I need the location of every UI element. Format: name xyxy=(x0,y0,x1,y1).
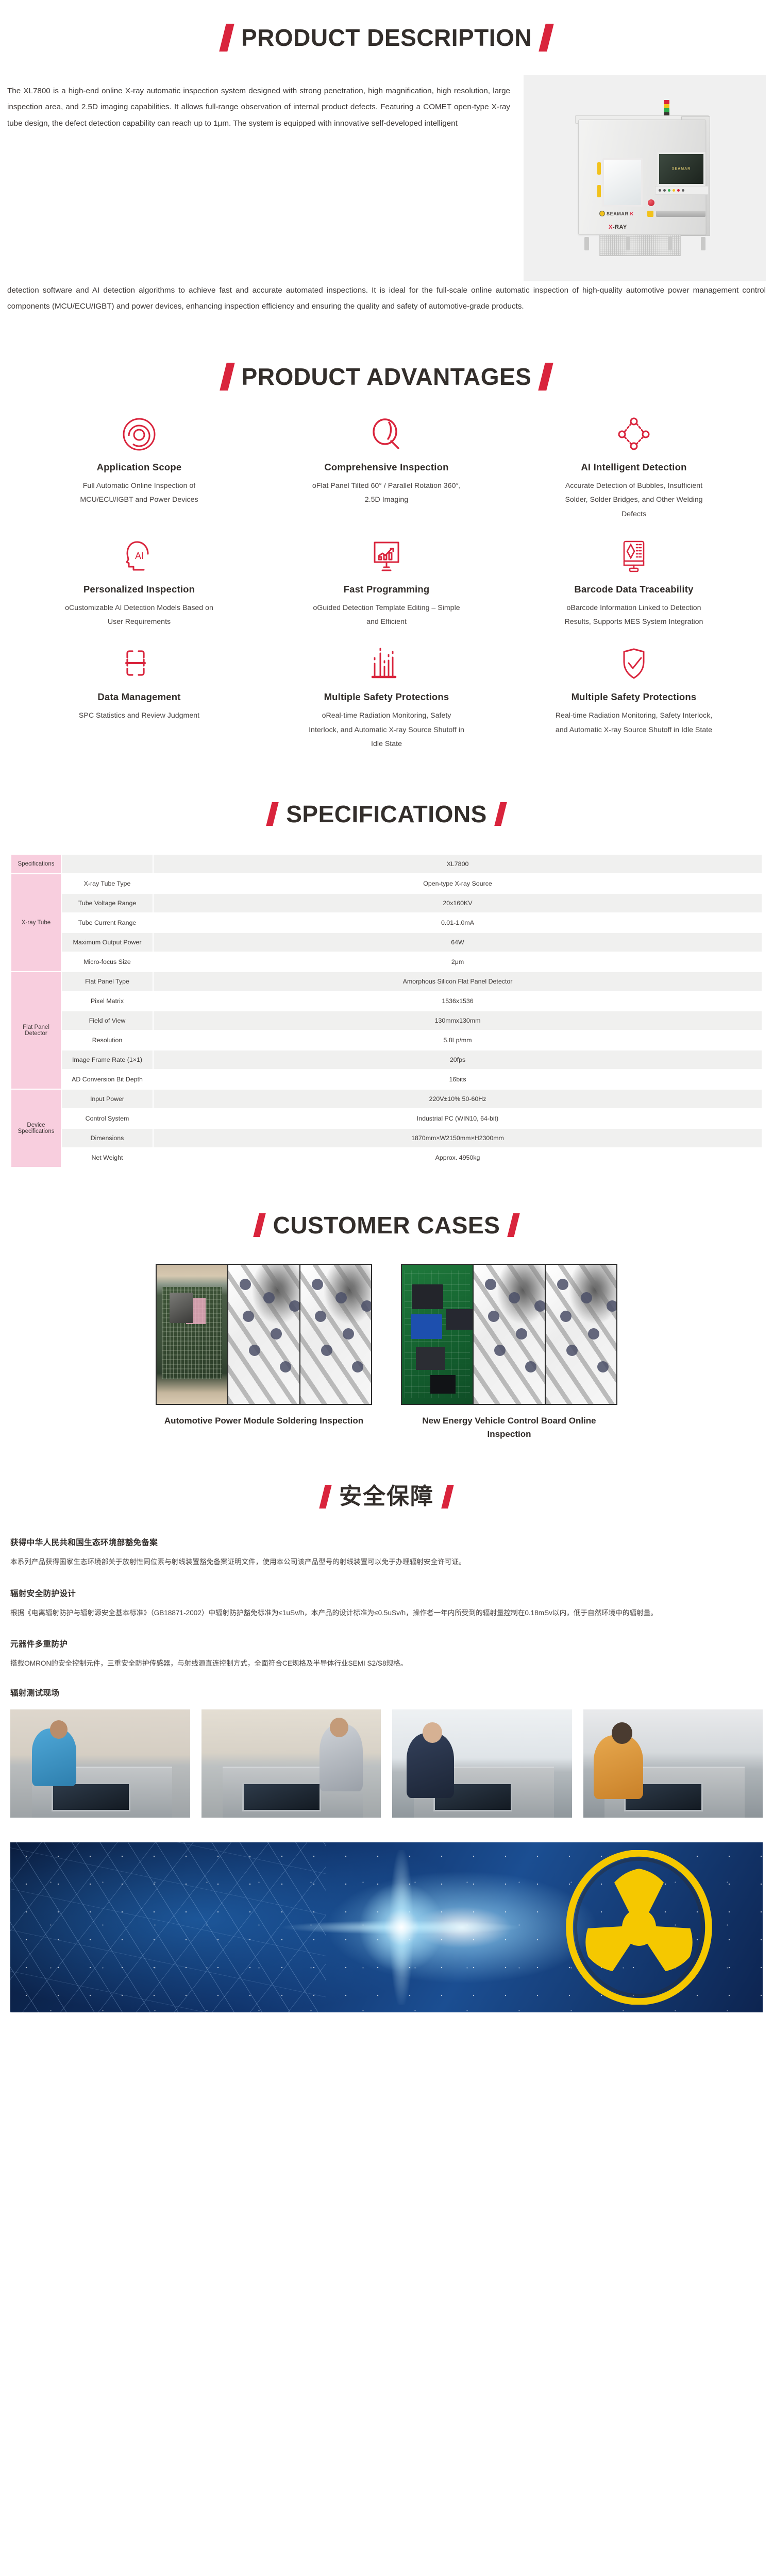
case-photo-pane xyxy=(157,1265,227,1404)
table-key-cell: Micro-focus Size xyxy=(62,953,153,971)
xray-label-text: -RAY xyxy=(613,224,627,230)
case-xray-pane-1 xyxy=(227,1265,299,1404)
table-key-cell: Pixel Matrix xyxy=(62,992,153,1010)
machine-window xyxy=(602,158,643,207)
table-value-cell: 5.8Lp/mm xyxy=(154,1031,762,1049)
case-image xyxy=(156,1264,372,1405)
advantage-description: Real-time Radiation Monitoring, Safety I… xyxy=(554,709,714,737)
table-key-cell: AD Conversion Bit Depth xyxy=(62,1070,153,1089)
table-key-header xyxy=(62,855,153,873)
table-value-cell: 1536x1536 xyxy=(154,992,762,1010)
product-description-body: The XL7800 is a high-end online X-ray au… xyxy=(0,75,773,314)
product-photo: SEAMAR SEAMARK xyxy=(524,75,766,281)
product-description-heading: PRODUCT DESCRIPTION xyxy=(0,24,773,52)
slash-right-icon xyxy=(539,363,553,391)
person-head xyxy=(50,1720,68,1739)
advantage-description: SPC Statistics and Review Judgment xyxy=(79,709,199,723)
monitor-chart-icon xyxy=(367,537,406,575)
table-value-cell: Approx. 4950kg xyxy=(154,1148,762,1167)
table-group-header: Specifications xyxy=(11,855,61,873)
slash-left-icon xyxy=(266,802,278,826)
advantage-title: Data Management xyxy=(97,691,180,703)
safety-block-text-1: 本系列产品获得国家生态环境部关于放射性同位素与射线装置豁免备案证明文件，使用本公… xyxy=(10,1555,763,1570)
table-row: Flat Panel Detector Flat Panel Type Amor… xyxy=(11,972,762,991)
table-key-cell: Dimensions xyxy=(62,1129,153,1147)
section-title: 安全保障 xyxy=(339,1485,434,1508)
machine-screen xyxy=(242,1783,321,1811)
table-value-cell: Amorphous Silicon Flat Panel Detector xyxy=(154,972,762,991)
section-product-description: PRODUCT DESCRIPTION The XL7800 is a high… xyxy=(0,0,773,314)
advantage-description: oBarcode Information Linked to Detection… xyxy=(554,601,714,630)
safety-body: 获得中华人民共和国生态环境部豁免备案 本系列产品获得国家生态环境部关于放射性同位… xyxy=(0,1536,773,1818)
machine-body: SEAMAR SEAMARK xyxy=(578,120,706,235)
safety-block-heading-2: 辐射安全防护设计 xyxy=(10,1587,763,1599)
advantage-card-fast-programming: Fast Programming oGuided Detection Templ… xyxy=(263,537,510,637)
table-row: Dimensions 1870mm×W2150mm×H2300mm xyxy=(11,1129,762,1147)
safety-block-text-2: 根据《电离辐射防护与辐射源安全基本标准》（GB18871-2002）中辐射防护豁… xyxy=(10,1606,763,1621)
slash-left-icon xyxy=(219,24,234,52)
person-head xyxy=(612,1722,632,1744)
table-key-cell: Net Weight xyxy=(62,1148,153,1167)
safety-photo-gallery xyxy=(10,1709,763,1818)
table-value-cell: 20x160KV xyxy=(154,894,762,912)
table-key-cell: Image Frame Rate (1×1) xyxy=(62,1050,153,1069)
ai-head-icon: AI xyxy=(120,537,158,575)
table-group-cell-device-specifications: Device Specifications xyxy=(11,1090,61,1167)
specifications-table-wrap: Specifications XL7800 X-ray Tube X-ray T… xyxy=(0,854,773,1168)
table-value-cell: Open-type X-ray Source xyxy=(154,874,762,893)
table-row: Maximum Output Power 64W xyxy=(11,933,762,952)
table-key-cell: Flat Panel Type xyxy=(62,972,153,991)
machine-conveyor-tray xyxy=(656,211,705,217)
advantage-title: Multiple Safety Protections xyxy=(324,691,449,703)
advantage-title: Fast Programming xyxy=(344,584,430,595)
case-xray-pane-2 xyxy=(545,1265,616,1404)
xray-machine-illustration: SEAMAR SEAMARK xyxy=(573,98,722,268)
section-title: PRODUCT ADVANTAGES xyxy=(242,365,532,388)
table-value-cell: 1870mm×W2150mm×H2300mm xyxy=(154,1129,762,1147)
radiation-banner-image xyxy=(10,1842,763,2012)
table-value-cell: 20fps xyxy=(154,1050,762,1069)
table-row: Net Weight Approx. 4950kg xyxy=(11,1148,762,1167)
case-item-automotive-power-module: Automotive Power Module Soldering Inspec… xyxy=(156,1264,372,1440)
product-description-paragraph-continued: detection software and AI detection algo… xyxy=(7,282,766,314)
safety-photo-4 xyxy=(583,1709,763,1818)
section-customer-cases: CUSTOMER CASES Automotive Power Module S… xyxy=(0,1168,773,1440)
safety-photo-3 xyxy=(392,1709,572,1818)
table-group-cell-flat-panel-detector: Flat Panel Detector xyxy=(11,972,61,1089)
target-rings-icon xyxy=(120,415,158,453)
table-key-cell: X-ray Tube Type xyxy=(62,874,153,893)
table-key-cell: Input Power xyxy=(62,1090,153,1108)
person-head xyxy=(423,1722,442,1743)
machine-monitor: SEAMAR xyxy=(657,152,705,186)
table-value-cell: 64W xyxy=(154,933,762,952)
signal-bars-icon xyxy=(367,645,406,683)
table-row: Pixel Matrix 1536x1536 xyxy=(11,992,762,1010)
case-item-new-energy-vehicle-control-board: New Energy Vehicle Control Board Online … xyxy=(401,1264,617,1440)
advantage-card-personalized-inspection: AI Personalized Inspection oCustomizable… xyxy=(15,537,263,637)
case-caption: New Energy Vehicle Control Board Online … xyxy=(401,1414,617,1440)
xray-x-letter: X xyxy=(609,224,613,230)
machine-screen xyxy=(52,1783,130,1811)
advantage-card-application-scope: Application Scope Full Automatic Online … xyxy=(15,415,263,529)
table-key-cell: Control System xyxy=(62,1109,153,1128)
table-value-cell: 220V±10% 50-60Hz xyxy=(154,1090,762,1108)
table-value-header: XL7800 xyxy=(154,855,762,873)
emergency-stop-button[interactable] xyxy=(647,198,656,207)
network-nodes-icon xyxy=(615,415,653,453)
case-caption: Automotive Power Module Soldering Inspec… xyxy=(156,1414,372,1428)
table-value-cell: 16bits xyxy=(154,1070,762,1089)
advantage-description: Full Automatic Online Inspection of MCU/… xyxy=(59,479,219,507)
person-in-photo xyxy=(594,1735,643,1799)
table-row: Control System Industrial PC (WIN10, 64-… xyxy=(11,1109,762,1128)
safety-block-heading-3: 元器件多重防护 xyxy=(10,1638,763,1649)
table-row: AD Conversion Bit Depth 16bits xyxy=(11,1070,762,1089)
slash-left-icon xyxy=(319,1485,331,1509)
machine-brand-label: SEAMARK xyxy=(599,211,634,216)
slash-right-icon xyxy=(441,1485,453,1509)
table-key-cell: Field of View xyxy=(62,1011,153,1030)
customer-cases-heading: CUSTOMER CASES xyxy=(0,1213,773,1237)
advantage-title: Application Scope xyxy=(97,462,182,473)
safety-photo-1 xyxy=(10,1709,190,1818)
advantage-title: Comprehensive Inspection xyxy=(324,462,448,473)
table-row: Micro-focus Size 2μm xyxy=(11,953,762,971)
section-title: SPECIFICATIONS xyxy=(286,802,487,826)
advantage-card-barcode-data-traceability: Barcode Data Traceability oBarcode Infor… xyxy=(510,537,758,637)
case-xray-pane-2 xyxy=(299,1265,371,1404)
advantage-title: Multiple Safety Protections xyxy=(572,691,697,703)
door-handle-top xyxy=(597,162,601,175)
table-row: Tube Voltage Range 20x160KV xyxy=(11,894,762,912)
section-safety: 安全保障 获得中华人民共和国生态环境部豁免备案 本系列产品获得国家生态环境部关于… xyxy=(0,1440,773,1818)
machine-xray-label: X-RAY xyxy=(609,224,627,230)
table-value-cell: 2μm xyxy=(154,953,762,971)
table-key-cell: Tube Current Range xyxy=(62,913,153,932)
monitor-logo: SEAMAR xyxy=(672,167,691,171)
case-xray-pane-1 xyxy=(473,1265,544,1404)
customer-cases-list: Automotive Power Module Soldering Inspec… xyxy=(0,1264,773,1440)
advantage-description: oReal-time Radiation Monitoring, Safety … xyxy=(307,709,466,752)
advantage-description: Accurate Detection of Bubbles, Insuffici… xyxy=(554,479,714,522)
table-row: Image Frame Rate (1×1) 20fps xyxy=(11,1050,762,1069)
advantage-title: AI Intelligent Detection xyxy=(581,462,686,473)
advantage-description: oCustomizable AI Detection Models Based … xyxy=(59,601,219,630)
safety-block-heading-1: 获得中华人民共和国生态环境部豁免备案 xyxy=(10,1536,763,1548)
table-header-row: Specifications XL7800 xyxy=(11,855,762,873)
gear-icon xyxy=(599,211,605,216)
table-row: Device Specifications Input Power 220V±1… xyxy=(11,1090,762,1108)
advantages-grid: Application Scope Full Automatic Online … xyxy=(0,415,773,759)
slash-right-icon xyxy=(539,24,553,52)
safety-photos-heading: 辐射测试现场 xyxy=(10,1687,763,1698)
light-flare xyxy=(267,1850,535,2005)
product-advantages-heading: PRODUCT ADVANTAGES xyxy=(0,363,773,391)
specifications-heading: SPECIFICATIONS xyxy=(0,802,773,826)
product-page: PRODUCT DESCRIPTION The XL7800 is a high… xyxy=(0,0,773,2031)
table-value-cell: 130mmx130mm xyxy=(154,1011,762,1030)
safety-block-text-3: 搭载OMRON的安全控制元件，三重安全防护传感器，与射线源直连控制方式，全面符合… xyxy=(10,1656,763,1671)
product-description-paragraph: The XL7800 is a high-end online X-ray au… xyxy=(7,83,510,131)
machine-legs xyxy=(581,234,707,250)
slash-right-icon xyxy=(508,1213,520,1237)
shield-check-icon xyxy=(615,645,653,683)
section-product-advantages: PRODUCT ADVANTAGES Application Scope Ful… xyxy=(0,323,773,759)
table-value-cell: 0.01-1.0mA xyxy=(154,913,762,932)
page-title: PRODUCT DESCRIPTION xyxy=(241,26,532,49)
data-frame-icon xyxy=(120,645,158,683)
table-row: Field of View 130mmx130mm xyxy=(11,1011,762,1030)
brand-accent-letter: K xyxy=(630,211,634,216)
section-radiation-banner xyxy=(0,1842,773,2031)
advantage-card-comprehensive-inspection: Comprehensive Inspection oFlat Panel Til… xyxy=(263,415,510,529)
table-key-cell: Resolution xyxy=(62,1031,153,1049)
svg-text:AI: AI xyxy=(135,551,144,561)
table-row: Resolution 5.8Lp/mm xyxy=(11,1031,762,1049)
slash-right-icon xyxy=(494,802,507,826)
safety-photo-2 xyxy=(201,1709,381,1818)
table-row: X-ray Tube X-ray Tube Type Open-type X-r… xyxy=(11,874,762,893)
brand-name: SEAMAR xyxy=(607,211,629,216)
specifications-table: Specifications XL7800 X-ray Tube X-ray T… xyxy=(10,854,763,1168)
radiation-warning-icon xyxy=(647,211,653,217)
advantage-title: Barcode Data Traceability xyxy=(574,584,693,595)
advantage-card-safety-protections-shield: Multiple Safety Protections Real-time Ra… xyxy=(510,645,758,759)
table-value-cell: Industrial PC (WIN10, 64-bit) xyxy=(154,1109,762,1128)
advantage-description: oFlat Panel Tilted 60° / Parallel Rotati… xyxy=(307,479,466,507)
table-group-cell-xray-tube: X-ray Tube xyxy=(11,874,61,971)
table-key-cell: Tube Voltage Range xyxy=(62,894,153,912)
table-key-cell: Maximum Output Power xyxy=(62,933,153,952)
advantage-description: oGuided Detection Template Editing – Sim… xyxy=(307,601,466,630)
table-row: Tube Current Range 0.01-1.0mA xyxy=(11,913,762,932)
advantage-card-safety-protections-monitoring: Multiple Safety Protections oReal-time R… xyxy=(263,645,510,759)
advantage-card-ai-intelligent-detection: AI Intelligent Detection Accurate Detect… xyxy=(510,415,758,529)
advantage-card-data-management: Data Management SPC Statistics and Revie… xyxy=(15,645,263,759)
slash-left-icon xyxy=(253,1213,265,1237)
barcode-scanner-icon xyxy=(615,537,653,575)
safety-heading: 安全保障 xyxy=(0,1485,773,1509)
section-specifications: SPECIFICATIONS Specifications XL7800 X-r… xyxy=(0,759,773,1168)
door-handle-bottom xyxy=(597,185,601,197)
advantage-title: Personalized Inspection xyxy=(83,584,195,595)
magnifier-icon xyxy=(367,415,406,453)
case-photo-pane xyxy=(402,1265,473,1404)
section-title: CUSTOMER CASES xyxy=(273,1213,500,1237)
slash-left-icon xyxy=(220,363,234,391)
radiation-trefoil-icon xyxy=(562,1850,716,2005)
machine-button-panel xyxy=(655,186,709,195)
case-image xyxy=(401,1264,617,1405)
